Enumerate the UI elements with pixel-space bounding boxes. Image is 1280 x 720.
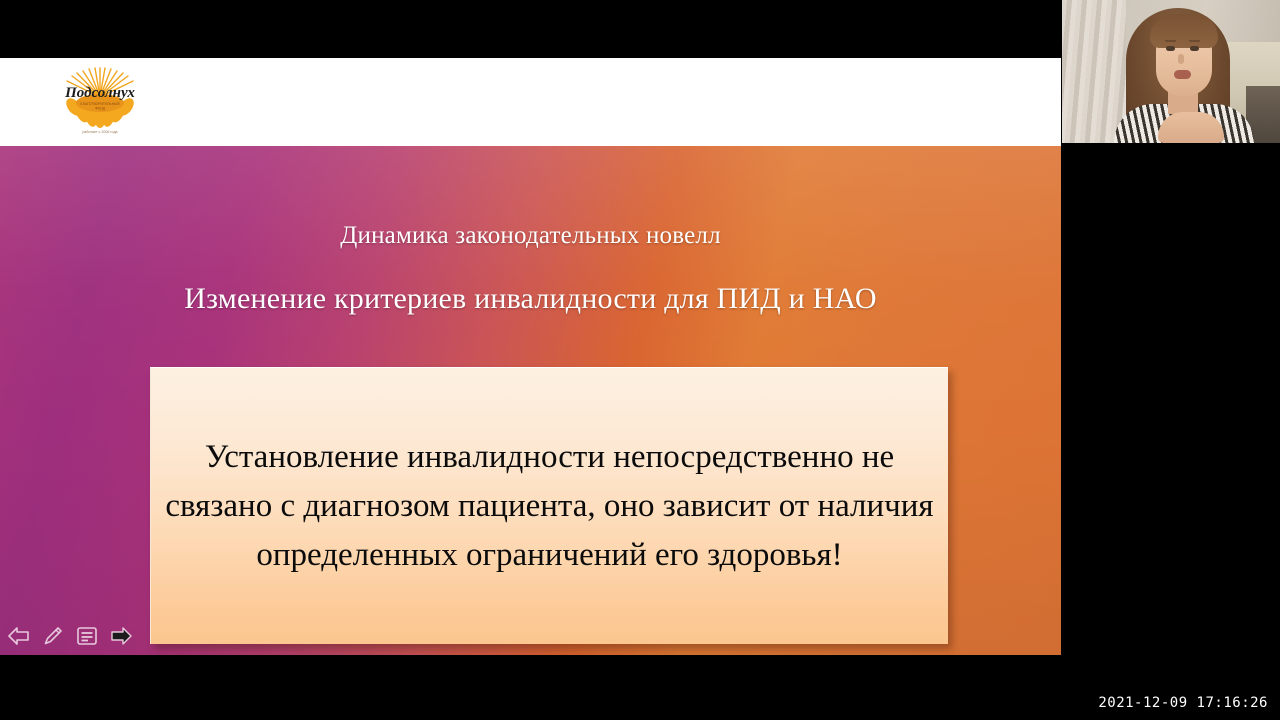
- slide-menu-button[interactable]: [74, 623, 100, 649]
- callout-text: Установление инвалидности непосредственн…: [151, 433, 948, 580]
- svg-text:БЛАГОТВОРИТЕЛЬНЫЙ: БЛАГОТВОРИТЕЛЬНЫЙ: [80, 102, 120, 106]
- svg-text:ФОНД: ФОНД: [95, 107, 106, 111]
- webcam-person-nose: [1178, 54, 1184, 64]
- organization-logo: Подсолнух БЛАГОТВОРИТЕЛЬНЫЙ ФОНД работае…: [52, 67, 148, 141]
- callout-box: Установление инвалидности непосредственн…: [150, 367, 948, 644]
- svg-text:Подсолнух: Подсолнух: [64, 85, 135, 101]
- pen-annotate-button[interactable]: [40, 623, 66, 649]
- slide-navigation-toolbar[interactable]: [6, 621, 134, 651]
- webcam-person-eye-left: [1166, 46, 1175, 51]
- presenter-webcam-video[interactable]: [1062, 0, 1280, 143]
- recording-timestamp: 2021-12-09 17:16:26: [1098, 695, 1268, 711]
- webcam-curtain: [1062, 0, 1126, 143]
- svg-text:работает с 2006 года: работает с 2006 года: [82, 130, 117, 134]
- pencil-icon: [41, 624, 65, 648]
- menu-icon: [76, 626, 98, 646]
- webcam-person-hands: [1158, 112, 1224, 143]
- next-slide-button[interactable]: [108, 623, 134, 649]
- webcam-person-fringe: [1150, 14, 1218, 48]
- webcam-person-mouth: [1174, 70, 1191, 79]
- previous-slide-button[interactable]: [6, 623, 32, 649]
- slide-title-primary: Динамика законодательных новелл: [0, 222, 1061, 250]
- webcam-person-eye-right: [1190, 46, 1199, 51]
- webcam-person-eyebrow-left: [1165, 40, 1176, 42]
- screen-share-region[interactable]: Подсолнух БЛАГОТВОРИТЕЛЬНЫЙ ФОНД работае…: [0, 58, 1061, 655]
- slide-content-area: Динамика законодательных новелл Изменени…: [0, 146, 1061, 655]
- slide-header-band: Подсолнух БЛАГОТВОРИТЕЛЬНЫЙ ФОНД работае…: [0, 58, 1061, 146]
- webcam-person-eyebrow-right: [1189, 40, 1200, 42]
- slide-title-secondary: Изменение критериев инвалидности для ПИД…: [0, 282, 1061, 316]
- arrow-left-icon: [7, 625, 31, 647]
- sunflower-logo-icon: Подсолнух БЛАГОТВОРИТЕЛЬНЫЙ ФОНД работае…: [52, 67, 148, 141]
- arrow-right-icon: [109, 625, 133, 647]
